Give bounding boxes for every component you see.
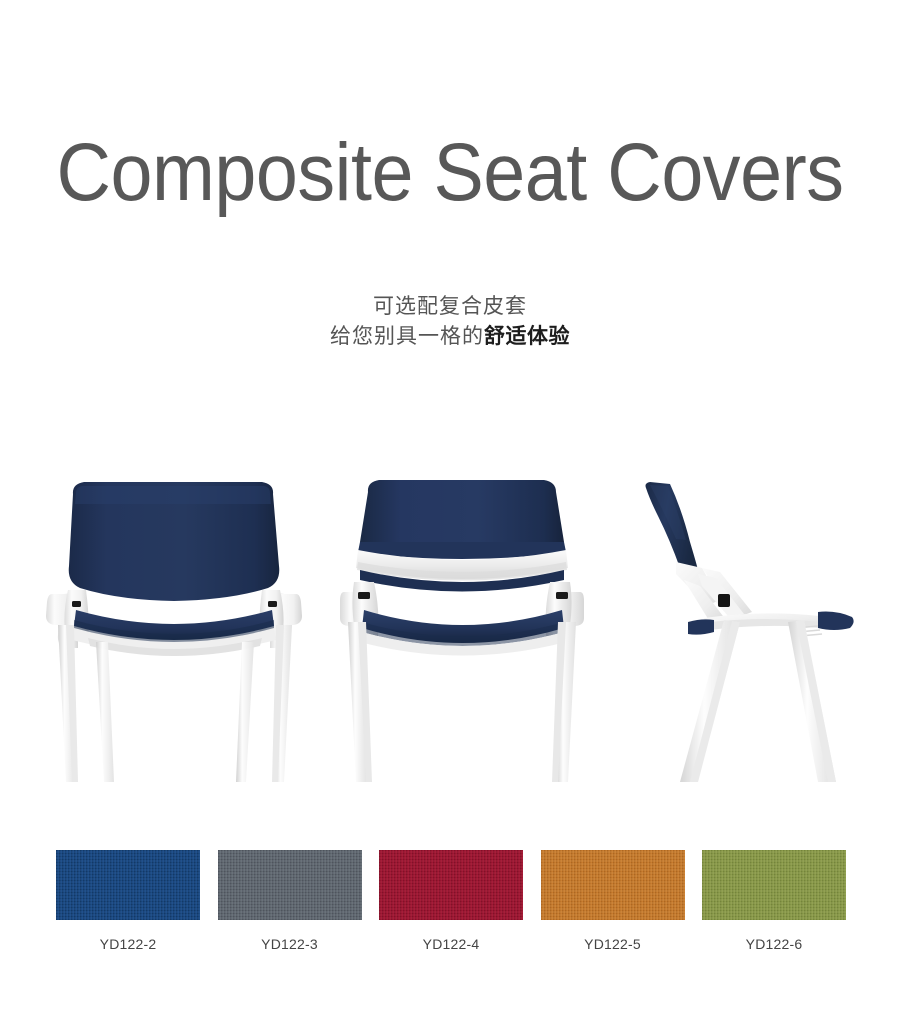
chair-front-view [330,470,620,800]
chair-gallery [0,470,900,800]
subtitle-line-2: 给您别具一格的舒适体验 [0,322,900,352]
swatch-chip-1[interactable] [56,850,200,920]
swatch-chip-2[interactable] [218,850,362,920]
swatch-cell[interactable]: YD122-4 [379,850,523,952]
subtitle-line-1: 可选配复合皮套 [0,292,900,322]
fabric-swatch-row: YD122-2 YD122-3 [56,850,846,952]
subtitle-block: 可选配复合皮套 给您别具一格的舒适体验 [0,292,900,352]
swatch-cell[interactable]: YD122-6 [702,850,846,952]
swatch-cell[interactable]: YD122-5 [541,850,685,952]
page-title: Composite Seat Covers [36,132,864,214]
swatch-chip-4[interactable] [541,850,685,920]
subtitle-line-2-normal: 给您别具一格的 [330,325,484,348]
chair-side-view [640,470,880,800]
swatch-label-5: YD122-6 [702,936,846,952]
chair-back-view [30,470,320,800]
swatch-label-1: YD122-2 [56,936,200,952]
subtitle-line-2-emphasis: 舒适体验 [484,325,570,348]
swatch-label-3: YD122-4 [379,936,523,952]
page-header: Composite Seat Covers [0,132,900,214]
swatch-chip-5[interactable] [702,850,846,920]
swatch-label-2: YD122-3 [218,936,362,952]
swatch-cell[interactable]: YD122-2 [56,850,200,952]
swatch-cell[interactable]: YD122-3 [218,850,362,952]
product-page: Composite Seat Covers 可选配复合皮套 给您别具一格的舒适体… [0,0,900,1033]
swatch-chip-3[interactable] [379,850,523,920]
swatch-label-4: YD122-5 [541,936,685,952]
